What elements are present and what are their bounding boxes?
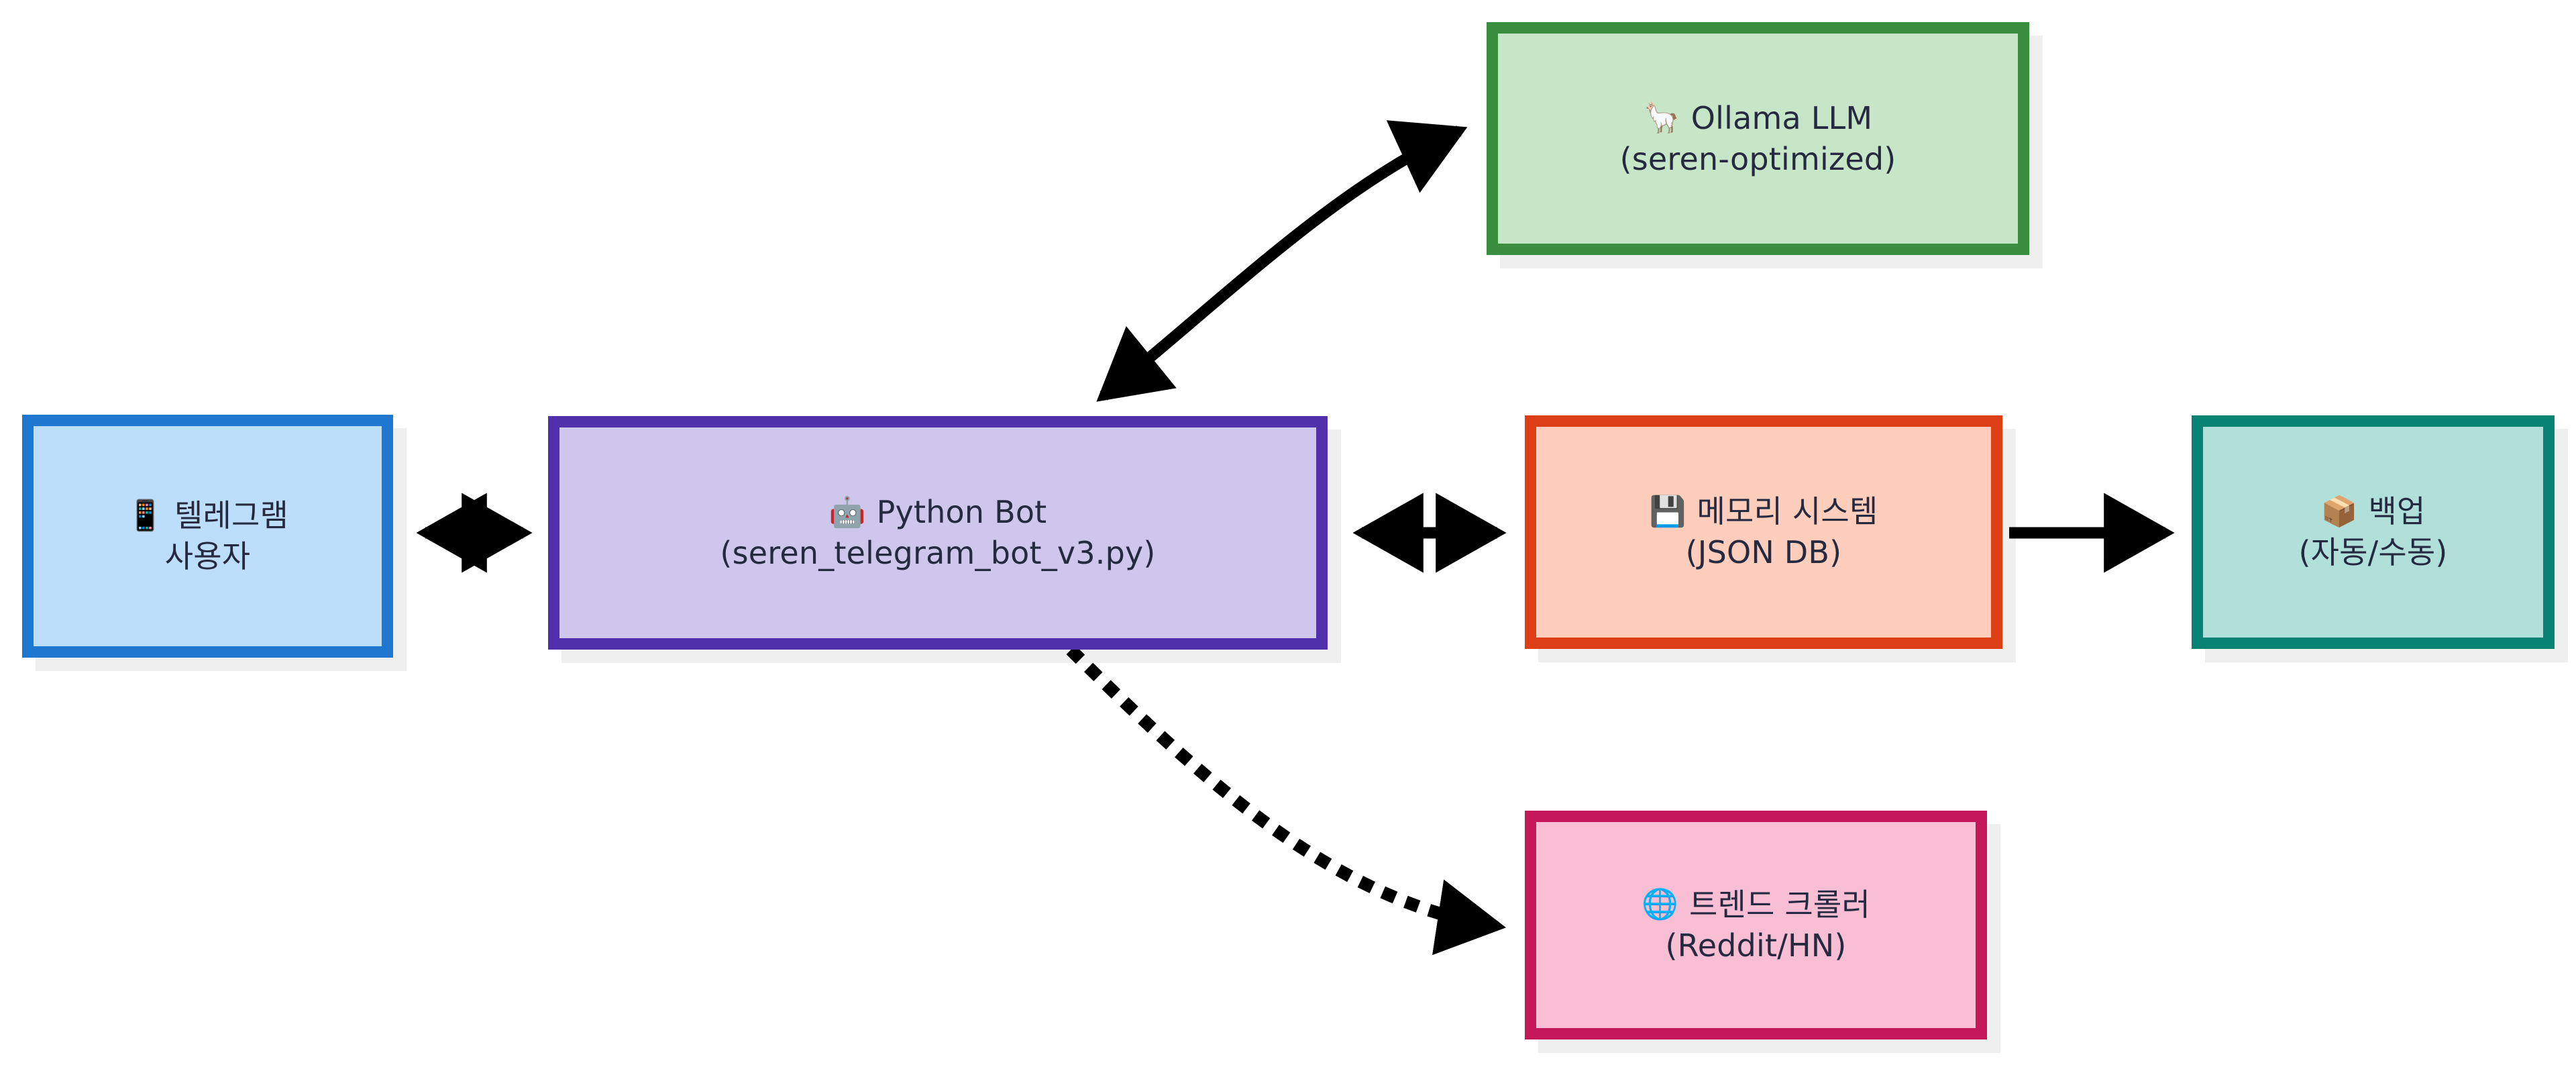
node-label-secondary: (seren-optimized) xyxy=(1620,139,1896,180)
node-label-secondary: (seren_telegram_bot_v3.py) xyxy=(720,533,1155,574)
robot-icon: 🤖 xyxy=(829,498,866,527)
node-label-primary: 백업 xyxy=(2368,491,2425,532)
node-label-primary: Ollama LLM xyxy=(1691,98,1873,139)
mobile-phone-icon: 📱 xyxy=(127,501,164,531)
llama-icon: 🦙 xyxy=(1644,103,1680,133)
edge-bot-crawler xyxy=(1075,654,1496,926)
node-label-primary: 텔레그램 xyxy=(174,495,288,536)
node-label-primary: 메모리 시스템 xyxy=(1697,491,1878,532)
node-memory-system[interactable]: 💾 메모리 시스템 (JSON DB) xyxy=(1525,415,2002,649)
floppy-disk-icon: 💾 xyxy=(1650,497,1686,527)
node-label-primary: 트렌드 크롤러 xyxy=(1689,884,1870,925)
node-label-secondary: 사용자 xyxy=(165,536,251,577)
node-label-secondary: (자동/수동) xyxy=(2298,532,2447,573)
edge-bot-ollama xyxy=(1104,131,1459,396)
node-python-bot[interactable]: 🤖 Python Bot (seren_telegram_bot_v3.py) xyxy=(548,416,1328,650)
node-label-secondary: (JSON DB) xyxy=(1686,532,1842,573)
node-backup[interactable]: 📦 백업 (자동/수동) xyxy=(2192,415,2555,649)
node-label-primary: Python Bot xyxy=(877,492,1047,533)
package-icon: 📦 xyxy=(2320,497,2357,527)
node-label-secondary: (Reddit/HN) xyxy=(1665,925,1846,966)
node-telegram-user[interactable]: 📱 텔레그램 사용자 xyxy=(22,415,393,658)
architecture-diagram: 📱 텔레그램 사용자 🤖 Python Bot (seren_telegram_… xyxy=(0,0,2576,1067)
node-ollama-llm[interactable]: 🦙 Ollama LLM (seren-optimized) xyxy=(1487,22,2029,255)
globe-icon: 🌐 xyxy=(1642,890,1678,919)
node-trend-crawler[interactable]: 🌐 트렌드 크롤러 (Reddit/HN) xyxy=(1525,811,1987,1039)
